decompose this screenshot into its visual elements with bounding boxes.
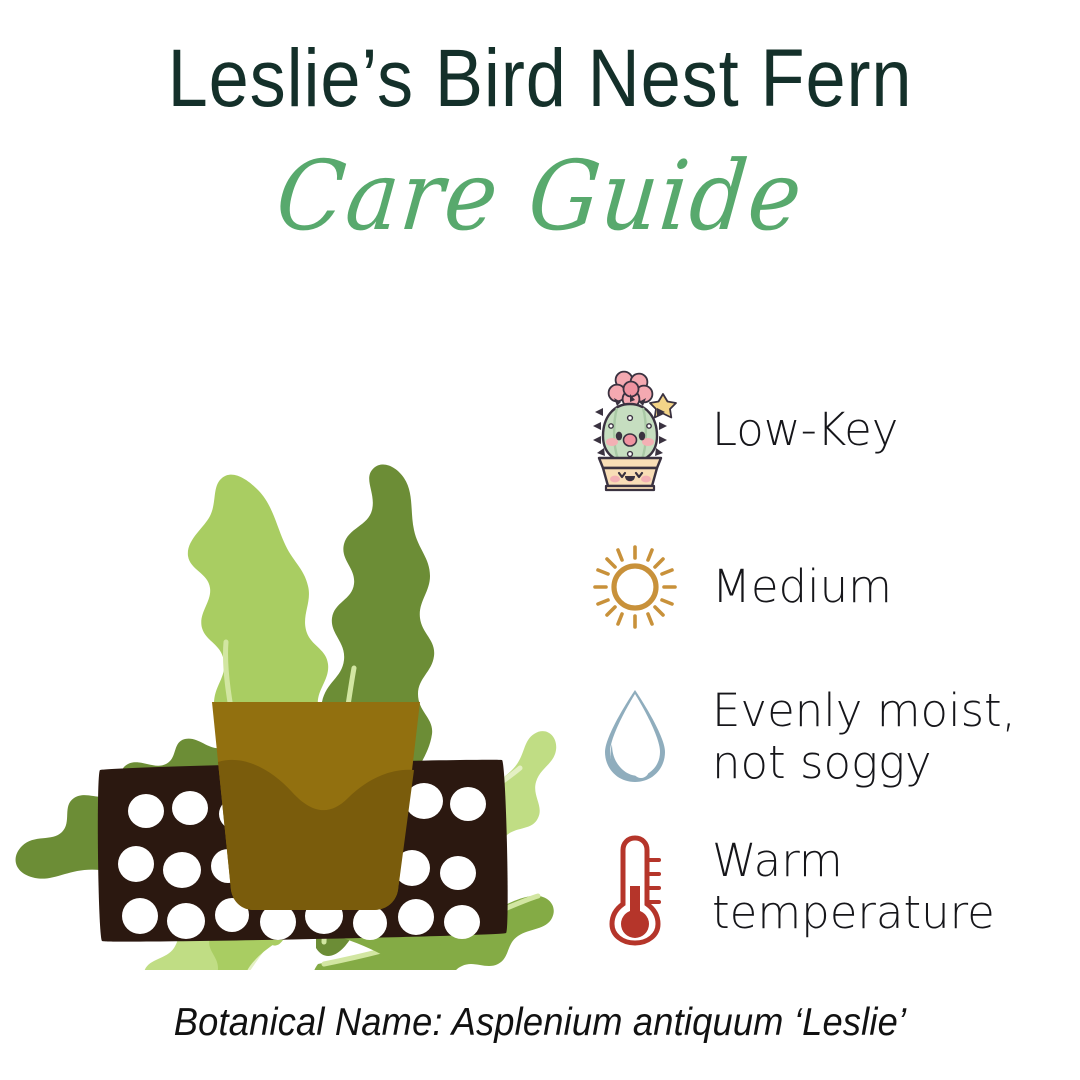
care-guide-card: Leslie’s Bird Nest Fern Care Guide [0,0,1080,1080]
sun-icon [570,517,700,657]
thermometer-icon [570,817,700,957]
care-row-water: Evenly moist, not soggy [570,667,1080,807]
botanical-name: Botanical Name: Asplenium antiquum ‘Lesl… [38,1000,1042,1046]
care-label-light-level: Medium [700,561,892,613]
care-row-temperature: Warm temperature [570,817,1080,957]
cactus-icon [570,360,700,500]
water-drop-icon [570,667,700,807]
plant-pot [212,702,420,910]
plant-illustration [0,330,560,970]
care-label-temperature: Warm temperature [700,835,1072,939]
care-requirements-list: Low-Key [570,355,1080,960]
care-label-light-tolerance: Low-Key [700,404,898,456]
care-label-water: Evenly moist, not soggy [700,685,1072,789]
page-subtitle: Care Guide [37,136,1042,256]
page-title: Leslie’s Bird Nest Fern [65,36,1015,122]
care-row-light-tolerance: Low-Key [570,355,1080,505]
care-row-light-level: Medium [570,517,1080,657]
